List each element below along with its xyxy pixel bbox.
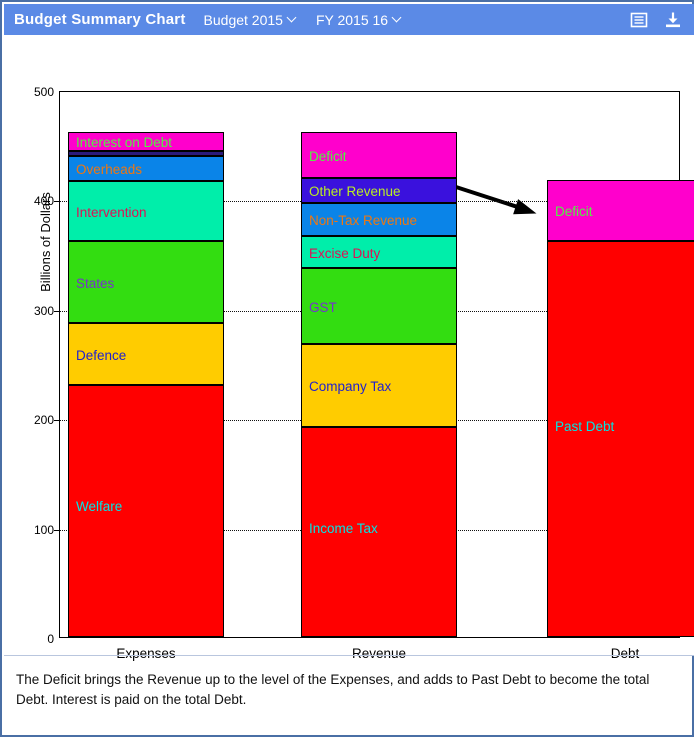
- budget-year-dropdown-label: Budget 2015: [204, 12, 283, 28]
- bar-segment[interactable]: Other Revenue: [302, 178, 456, 203]
- bar-debt[interactable]: Past DebtDeficitDebt: [547, 180, 694, 637]
- y-axis-tick-label: 0: [47, 632, 54, 646]
- list-view-icon[interactable]: [630, 11, 648, 29]
- y-axis-tick-mark: [54, 311, 60, 312]
- bar-segment-label: Excise Duty: [309, 247, 380, 261]
- bar-segment-label: Income Tax: [309, 522, 378, 536]
- chart-area: Billions of Dollars 0100200300400500Welf…: [4, 35, 694, 655]
- chart-caption: The Deficit brings the Revenue up to the…: [16, 670, 676, 709]
- bar-segment-label: Deficit: [309, 150, 347, 164]
- y-axis-tick-mark: [54, 201, 60, 202]
- page-title: Budget Summary Chart: [14, 11, 186, 28]
- bar-segment-label: Interest on Debt: [76, 136, 172, 150]
- bar-segment-label: Deficit: [555, 205, 593, 219]
- x-axis-label-expenses: Expenses: [116, 646, 175, 661]
- bar-expenses[interactable]: WelfareDefenceStatesInterventionOverhead…: [68, 132, 224, 637]
- bar-segment[interactable]: Company Tax: [302, 344, 456, 427]
- x-axis-label-revenue: Revenue: [352, 646, 406, 661]
- download-icon[interactable]: [664, 11, 682, 29]
- bar-segment-label: GST: [309, 301, 337, 315]
- y-axis-tick-label: 200: [34, 413, 54, 427]
- bar-segment[interactable]: Intervention: [69, 181, 223, 241]
- bar-segment[interactable]: Interest on Debt: [69, 132, 223, 152]
- budget-year-dropdown[interactable]: Budget 2015: [204, 12, 298, 28]
- bar-segment[interactable]: Defence: [69, 323, 223, 385]
- y-axis-tick-mark: [54, 530, 60, 531]
- bar-segment[interactable]: Excise Duty: [302, 236, 456, 269]
- footer-divider: [4, 655, 694, 656]
- bar-segment-label: Welfare: [76, 500, 122, 514]
- bar-segment-label: Defence: [76, 349, 126, 363]
- bar-segment[interactable]: Deficit: [302, 132, 456, 178]
- bar-segment[interactable]: States: [69, 241, 223, 323]
- y-axis-tick-label: 300: [34, 304, 54, 318]
- bar-segment[interactable]: Deficit: [548, 180, 694, 241]
- header-actions: [630, 4, 682, 35]
- bar-segment[interactable]: [69, 151, 223, 155]
- bar-revenue[interactable]: Income TaxCompany TaxGSTExcise DutyNon-T…: [301, 132, 457, 637]
- bar-segment[interactable]: Welfare: [69, 385, 223, 637]
- bar-segment-label: Overheads: [76, 163, 142, 177]
- bar-segment[interactable]: Income Tax: [302, 427, 456, 637]
- chevron-down-icon: [393, 13, 403, 23]
- plot-region: Billions of Dollars 0100200300400500Welf…: [59, 91, 680, 638]
- x-axis-label-debt: Debt: [611, 646, 640, 661]
- bar-segment[interactable]: GST: [302, 268, 456, 343]
- y-axis-tick-label: 100: [34, 523, 54, 537]
- bar-segment[interactable]: Non-Tax Revenue: [302, 203, 456, 236]
- chevron-down-icon: [288, 13, 298, 23]
- y-axis-tick-label: 500: [34, 85, 54, 99]
- bar-segment[interactable]: Past Debt: [548, 241, 694, 637]
- fiscal-year-dropdown[interactable]: FY 2015 16: [316, 12, 403, 28]
- bar-segment-label: States: [76, 277, 114, 291]
- bar-segment-label: Intervention: [76, 206, 147, 220]
- bar-segment[interactable]: Overheads: [69, 156, 223, 181]
- y-axis-tick-label: 400: [34, 194, 54, 208]
- bar-segment-label: Non-Tax Revenue: [309, 214, 417, 228]
- y-axis-tick-mark: [54, 420, 60, 421]
- title-bar: Budget Summary Chart Budget 2015 FY 2015…: [4, 4, 694, 35]
- budget-chart-window: Budget Summary Chart Budget 2015 FY 2015…: [0, 0, 694, 737]
- bar-segment-label: Other Revenue: [309, 185, 401, 199]
- bar-segment-label: Past Debt: [555, 420, 614, 434]
- fiscal-year-dropdown-label: FY 2015 16: [316, 12, 388, 28]
- bar-segment-label: Company Tax: [309, 380, 391, 394]
